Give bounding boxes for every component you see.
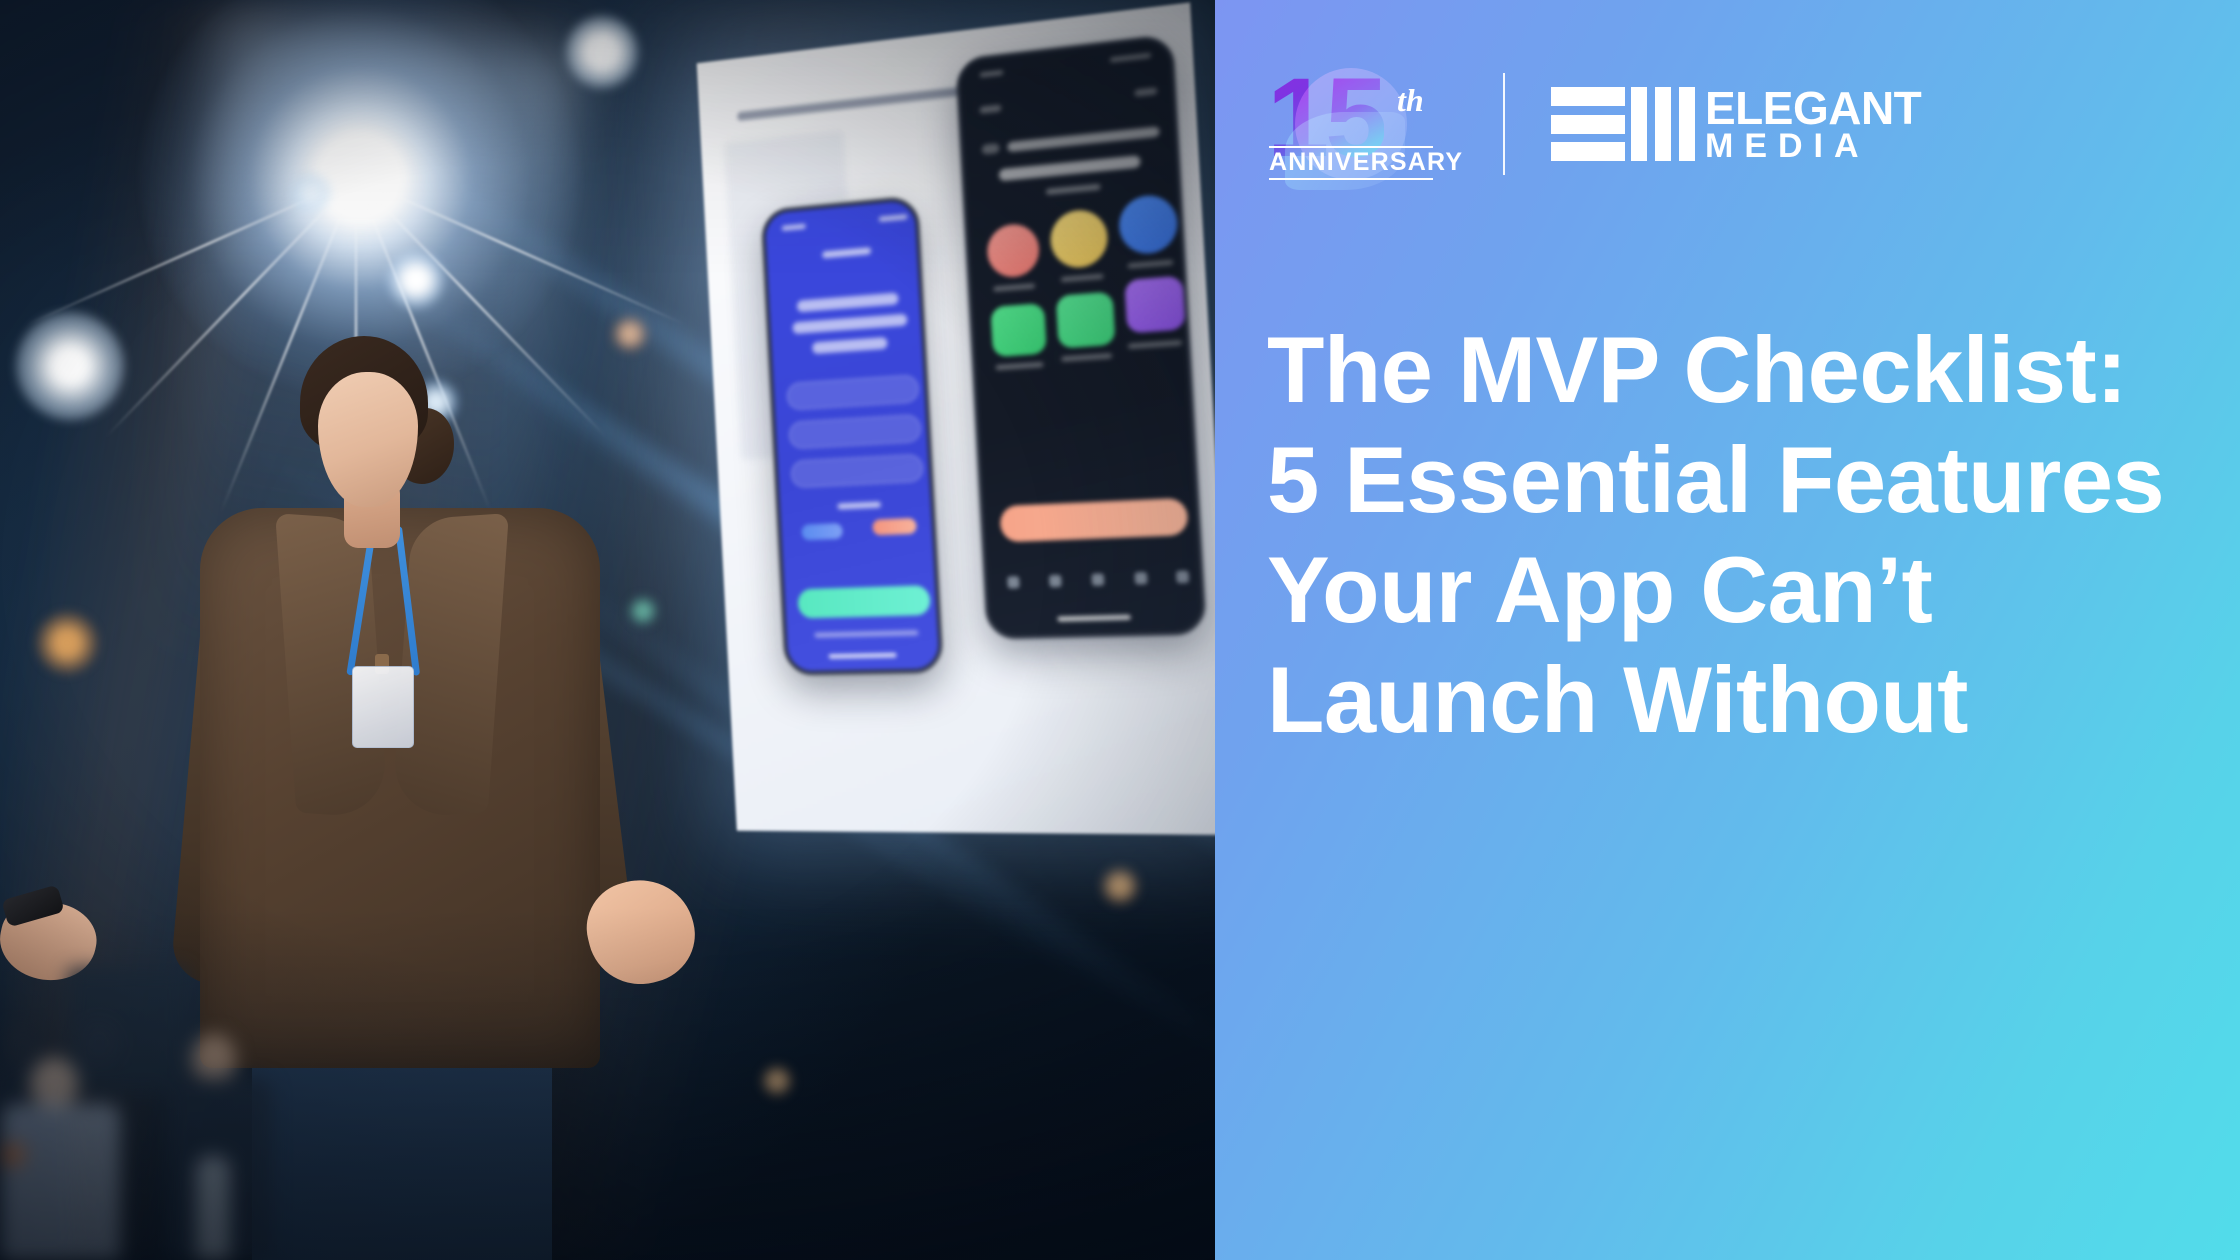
page-title: The MVP Checklist: 5 Essential Features … [1267,315,2197,755]
anniversary-ordinal: th [1397,82,1424,119]
bokeh-light [388,252,444,308]
logo-divider [1503,73,1505,175]
stage-photo [0,0,1215,1260]
anniversary-badge: 15 th ANNIVERSARY [1267,66,1463,182]
brand-name-line2: MEDIA [1705,130,1921,163]
bokeh-light [1100,866,1140,906]
anniversary-word: ANNIVERSARY [1269,146,1433,180]
elegant-media-logo: ELEGANT MEDIA [1551,86,1921,163]
bokeh-light [566,16,638,88]
bokeh-light [760,1064,794,1098]
logo-bar: 15 th ANNIVERSARY ELEGANT MEDIA [1267,66,1921,182]
badge-card [352,666,414,748]
bokeh-light [292,174,330,212]
projection-screen [697,2,1215,835]
social-card: 15 th ANNIVERSARY ELEGANT MEDIA The MVP … [0,0,2240,1260]
brand-name-line1: ELEGANT [1705,86,1921,130]
elegant-media-mark-icon [1551,87,1695,161]
blurred-audience [0,960,460,1260]
speaker-face [318,372,418,507]
info-panel: 15 th ANNIVERSARY ELEGANT MEDIA The MVP … [1215,0,2240,1260]
